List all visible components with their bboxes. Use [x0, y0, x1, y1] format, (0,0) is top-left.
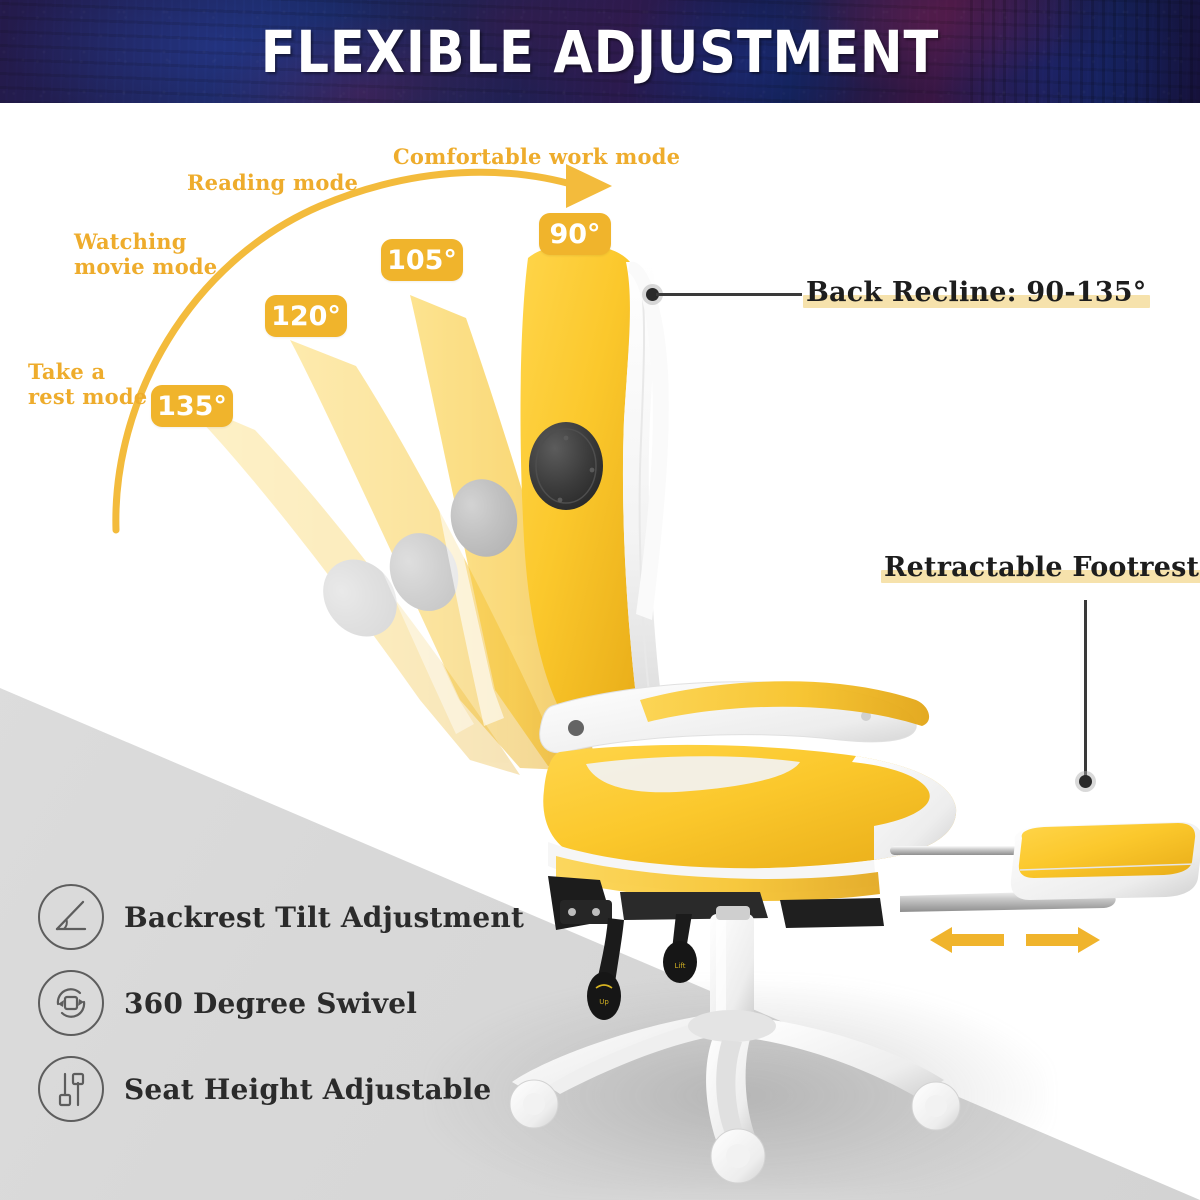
feature-label-backrest-tilt: Backrest Tilt Adjustment [124, 901, 524, 934]
rotate-360-glyph [50, 982, 92, 1024]
tilt-angle-glyph [51, 897, 91, 937]
mode-label-comfortable-work: Comfortable work mode [393, 145, 680, 170]
chair-control-levers: Up Lift [587, 914, 697, 1020]
chair-base-star [510, 1010, 960, 1183]
angle-badge-120: 120° [265, 295, 347, 337]
height-slider-icon [38, 1056, 104, 1122]
feature-row-360-swivel: 360 Degree Swivel [38, 970, 417, 1036]
callout-retractable-footrest: Retractable Footrest [884, 552, 1199, 583]
callout-back-recline: Back Recline: 90-135° [806, 277, 1146, 308]
chair-backrest-90 [521, 244, 669, 728]
mode-label-reading: Reading mode [187, 171, 358, 196]
angle-badge-105: 105° [381, 239, 463, 281]
rotate-360-icon [38, 970, 104, 1036]
chair-gas-cylinder [710, 906, 754, 1020]
infographic-stage: FLEXIBLE ADJUSTMENT [0, 0, 1200, 1200]
angle-badge-90: 90° [539, 213, 611, 255]
callout-line-back-recline [656, 293, 802, 296]
callout-back-recline-label: Back Recline: 90-135° [806, 277, 1146, 308]
feature-row-backrest-tilt: Backrest Tilt Adjustment [38, 884, 524, 950]
callout-retractable-footrest-label: Retractable Footrest [884, 552, 1199, 583]
feature-row-seat-height: Seat Height Adjustable [38, 1056, 491, 1122]
tilt-angle-icon [38, 884, 104, 950]
feature-label-360-swivel: 360 Degree Swivel [124, 987, 417, 1020]
callout-line-footrest [1084, 600, 1087, 780]
callout-dot-footrest [1079, 775, 1092, 788]
mode-label-watching-movie: Watching movie mode [74, 230, 217, 280]
mode-label-take-a-rest: Take a rest mode [28, 360, 147, 410]
height-slider-glyph [51, 1069, 91, 1109]
footrest-slide-arrows [930, 920, 1100, 960]
svg-text:Up: Up [599, 998, 609, 1006]
svg-text:Lift: Lift [675, 962, 686, 970]
feature-label-seat-height: Seat Height Adjustable [124, 1073, 491, 1106]
angle-badge-135: 135° [151, 385, 233, 427]
